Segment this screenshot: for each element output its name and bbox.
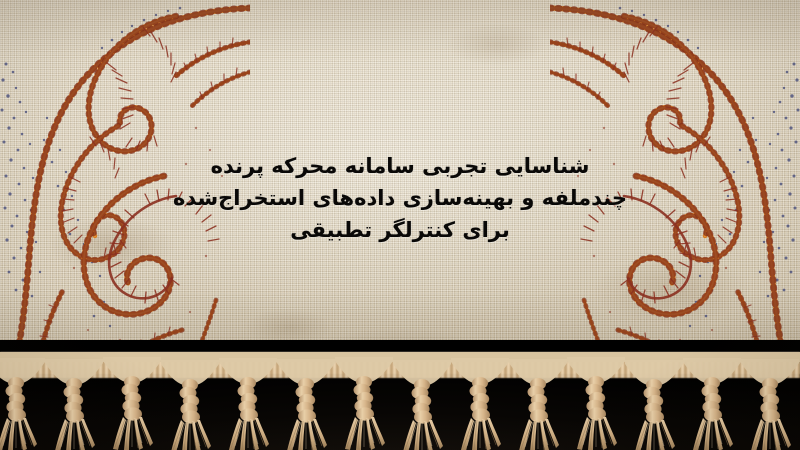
tassel-item [103,357,161,450]
title-line-2: چندملفه و بهینه‌سازی داده‌های استخراج‌شد… [0,182,800,214]
tassel-item [683,358,741,450]
title-line-1: شناسایی تجربی سامانه محرکه پرنده [0,150,800,182]
tassel-item [161,360,219,450]
tassel-item [567,357,625,450]
tassel-item [509,359,567,450]
tassel-item [219,358,277,450]
tassel-item [451,358,509,450]
tassel-item [393,360,451,450]
tassel-item [0,358,45,450]
tassel-fringe [0,352,800,450]
tassel-item [335,357,393,450]
tassel-item [45,359,103,450]
tassel-item [277,359,335,450]
tassel-item [741,359,799,450]
title-slide: شناسایی تجربی سامانه محرکه پرنده چندملفه… [0,0,800,450]
slide-title: شناسایی تجربی سامانه محرکه پرنده چندملفه… [0,150,800,246]
tassel-item [625,360,683,450]
title-line-3: برای کنترلگر تطبیقی [0,214,800,246]
